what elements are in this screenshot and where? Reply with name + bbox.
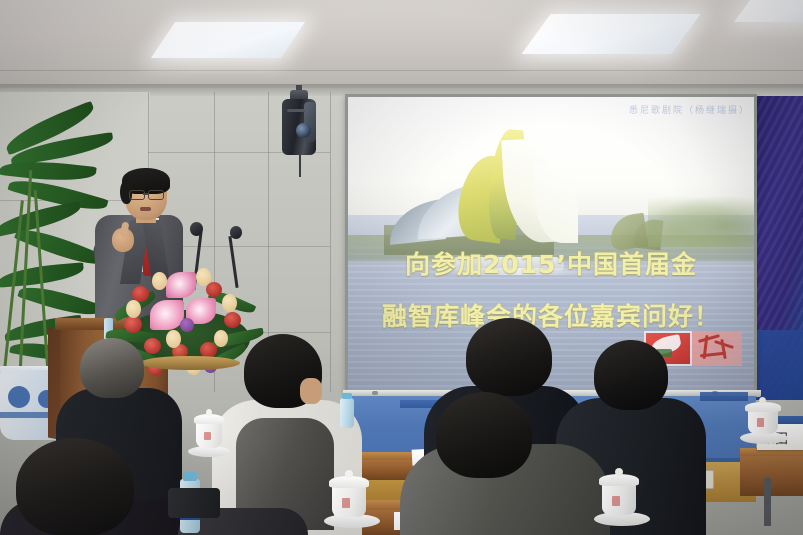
rail-clip: [372, 391, 378, 395]
rose-bloom: [224, 312, 241, 328]
teacup-knob: [759, 397, 766, 404]
planter-pattern: [8, 386, 30, 408]
chair-back: [168, 488, 220, 518]
audience-member-head: [80, 338, 144, 398]
teacup-mark: [757, 418, 764, 427]
cream-bloom: [152, 272, 167, 290]
lily-bloom: [150, 300, 184, 330]
ceiling-light-panel: [521, 14, 700, 54]
projector-cable: [299, 155, 301, 177]
bottle-cap: [183, 472, 197, 481]
audience-member-head: [16, 438, 134, 535]
teacup-mark: [612, 496, 620, 506]
rose-bloom: [206, 282, 222, 297]
microphone-icon: [230, 226, 242, 239]
teacup-knob: [345, 470, 353, 478]
speaker-mouth: [140, 207, 151, 211]
projector-lens: [296, 123, 311, 138]
orchid-bloom: [180, 318, 194, 332]
ceiling-light-panel: [151, 22, 305, 58]
speaker-glasses-icon: [129, 190, 145, 200]
ceiling-seam: [0, 70, 803, 71]
bottle-cap: [342, 393, 352, 399]
audience-member-ear: [300, 378, 322, 404]
audience-member-head: [436, 392, 532, 478]
projector-vent: [287, 109, 305, 112]
cream-bloom: [196, 268, 211, 286]
teacup-mark: [204, 432, 211, 440]
audience-table: [740, 456, 803, 496]
flower-base-plate: [140, 356, 240, 370]
table-leg: [764, 478, 771, 526]
cream-bloom: [126, 300, 141, 318]
teacup-knob: [615, 468, 623, 476]
speaker-glasses-bridge: [143, 193, 148, 195]
cream-bloom: [166, 330, 181, 348]
teacup-knob: [206, 409, 212, 416]
cream-bloom: [222, 294, 237, 312]
rose-bloom: [124, 316, 142, 333]
teacup-mark: [342, 498, 350, 508]
rose-bloom: [144, 338, 161, 354]
audience-member-head: [594, 340, 668, 410]
slide-vignette: [348, 97, 754, 390]
projection-screen: 悉尼歌剧院（杨继瑞摄） 向参加2015’中国首届金 融智库峰会的各位嘉宾问好！: [348, 97, 754, 390]
screenshot-root: 悉尼歌剧院（杨继瑞摄） 向参加2015’中国首届金 融智库峰会的各位嘉宾问好！: [0, 0, 803, 535]
name-placard-banner: [700, 392, 748, 401]
speaker-glasses-icon: [148, 190, 164, 200]
audience-member-head: [466, 318, 552, 396]
wall-seam: [330, 92, 331, 392]
microphone-icon: [190, 222, 203, 236]
water-bottle: [340, 398, 354, 428]
cream-bloom: [214, 330, 228, 347]
lily-bloom: [166, 272, 196, 298]
